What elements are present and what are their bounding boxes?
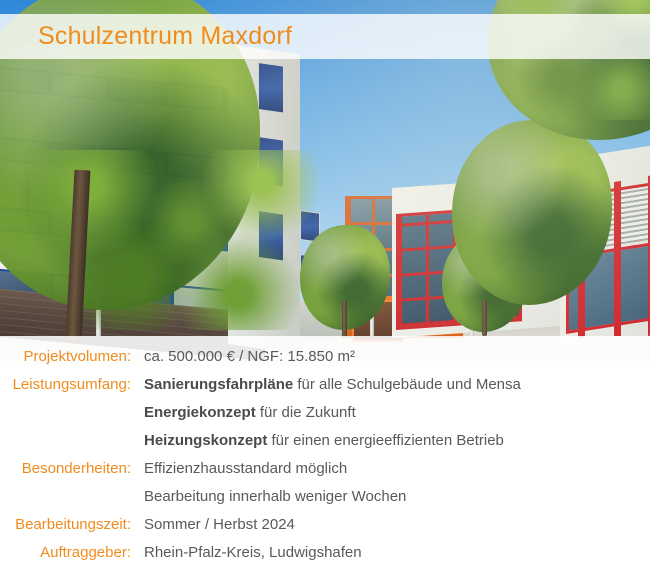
detail-label: Projektvolumen: xyxy=(0,343,131,371)
page-title: Schulzentrum Maxdorf xyxy=(38,24,292,49)
detail-label: Besonderheiten: xyxy=(0,455,131,483)
detail-row: Leistungsumfang:Sanierungsfahrpläne für … xyxy=(0,371,650,399)
detail-value-emphasis: Energiekonzept xyxy=(144,404,256,421)
detail-value: Sommer / Herbst 2024 xyxy=(144,511,295,539)
tree-trunk xyxy=(482,300,487,336)
title-band: Schulzentrum Maxdorf xyxy=(0,14,650,59)
detail-row: Bearbeitungszeit:Sommer / Herbst 2024 xyxy=(0,511,650,539)
detail-row: Besonderheiten:Effizienzhausstandard mög… xyxy=(0,455,650,483)
detail-label: Auftraggeber: xyxy=(0,539,131,562)
detail-value: Rhein-Pfalz-Kreis, Ludwigshafen xyxy=(144,539,362,562)
red-column xyxy=(614,181,621,337)
detail-value: ca. 500.000 € / NGF: 15.850 m² xyxy=(144,343,355,371)
detail-value-emphasis: Sanierungsfahrpläne xyxy=(144,376,293,393)
detail-row: Energiekonzept für die Zukunft xyxy=(0,399,650,427)
detail-row: Auftraggeber:Rhein-Pfalz-Kreis, Ludwigsh… xyxy=(0,539,650,562)
project-slide: Schulzentrum Maxdorf Projektvolumen:ca. … xyxy=(0,0,650,562)
project-details-table: Projektvolumen:ca. 500.000 € / NGF: 15.8… xyxy=(0,336,650,562)
detail-row: Projektvolumen:ca. 500.000 € / NGF: 15.8… xyxy=(0,343,650,371)
detail-value-rest: für einen energieeffizienten Betrieb xyxy=(267,432,504,449)
detail-label: Leistungsumfang: xyxy=(0,371,131,399)
detail-value: Energiekonzept für die Zukunft xyxy=(144,399,356,427)
detail-value: Sanierungsfahrpläne für alle Schulgebäud… xyxy=(144,371,521,399)
corner-window xyxy=(258,62,284,114)
detail-row: Heizungskonzept für einen energieeffizie… xyxy=(0,427,650,455)
detail-value: Heizungskonzept für einen energieeffizie… xyxy=(144,427,504,455)
detail-value-rest: für die Zukunft xyxy=(256,404,356,421)
detail-value-emphasis: Heizungskonzept xyxy=(144,432,267,449)
detail-row: Bearbeitung innerhalb weniger Wochen xyxy=(0,483,650,511)
detail-value: Effizienzhausstandard möglich xyxy=(144,455,347,483)
detail-value-rest: für alle Schulgebäude und Mensa xyxy=(293,376,521,393)
detail-label: Bearbeitungszeit: xyxy=(0,511,131,539)
detail-value: Bearbeitung innerhalb weniger Wochen xyxy=(144,483,406,511)
tree-trunk xyxy=(342,300,347,338)
